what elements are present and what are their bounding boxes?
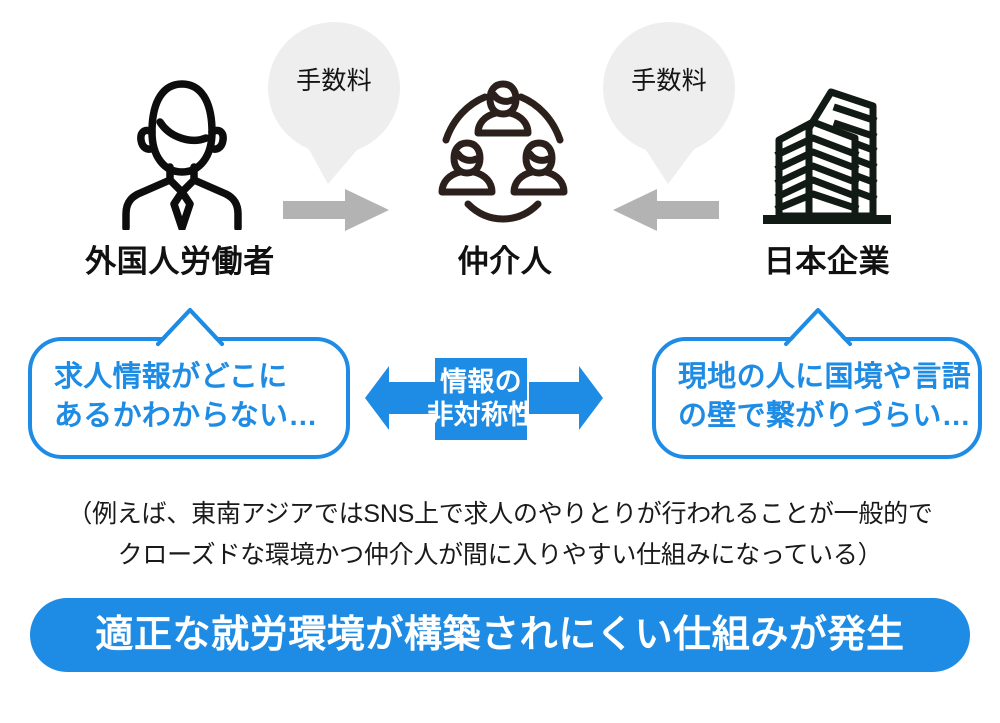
asymmetry-line: 情報の <box>440 366 522 399</box>
caption-line: クローズドな環境かつ仲介人が間に入りやすい仕組みになっている） <box>0 535 1000 576</box>
fee-bubble-right-label: 手数料 <box>631 69 707 94</box>
office-building-icon <box>757 84 897 230</box>
flow-arrow-company-to-broker <box>613 188 721 232</box>
fee-bubble-left: 手数料 <box>268 22 400 154</box>
fee-bubble-left-tail <box>300 140 370 186</box>
infographic-canvas: 外国人労働者 <box>0 0 1000 723</box>
actor-label-foreign-worker: 外国人労働者 <box>55 246 305 277</box>
actor-label-text: 仲介人 <box>454 246 557 277</box>
fee-bubble-right: 手数料 <box>603 22 735 154</box>
caption-block: （例えば、東南アジアではSNS上で求人のやりとりが行われることが一般的で クロー… <box>0 494 1000 575</box>
actor-label-text: 日本企業 <box>760 246 894 277</box>
actor-label-text: 外国人労働者 <box>81 246 279 277</box>
speech-line: あるかわからない… <box>54 397 324 436</box>
fee-bubble-left-label: 手数料 <box>296 69 372 94</box>
fee-bubble-right-tail <box>634 140 704 186</box>
asymmetry-arrow-right <box>527 364 605 432</box>
asymmetry-label-box: 情報の 非対称性 <box>435 358 527 440</box>
speech-box-company-problem: 現地の人に国境や言語 の壁で繋がりづらい… <box>652 337 982 459</box>
speech-line: 求人情報がどこに <box>54 358 324 397</box>
flow-arrow-worker-to-broker <box>283 188 391 232</box>
asymmetry-line: 非対称性 <box>426 399 535 432</box>
speech-box-worker-problem: 求人情報がどこに あるかわからない… <box>28 337 350 459</box>
actor-label-broker: 仲介人 <box>420 246 590 277</box>
conclusion-banner-text: 適正な就労環境が構築されにくい仕組みが発生 <box>95 616 904 654</box>
speech-line: の壁で繋がりづらい… <box>678 397 956 436</box>
speech-line: 現地の人に国境や言語 <box>678 358 956 397</box>
conclusion-banner: 適正な就労環境が構築されにくい仕組みが発生 <box>30 598 970 672</box>
person-in-suit-icon <box>108 72 256 230</box>
actor-label-japanese-company: 日本企業 <box>722 246 932 277</box>
caption-line: （例えば、東南アジアではSNS上で求人のやりとりが行われることが一般的で <box>0 494 1000 535</box>
people-group-icon <box>428 78 578 228</box>
